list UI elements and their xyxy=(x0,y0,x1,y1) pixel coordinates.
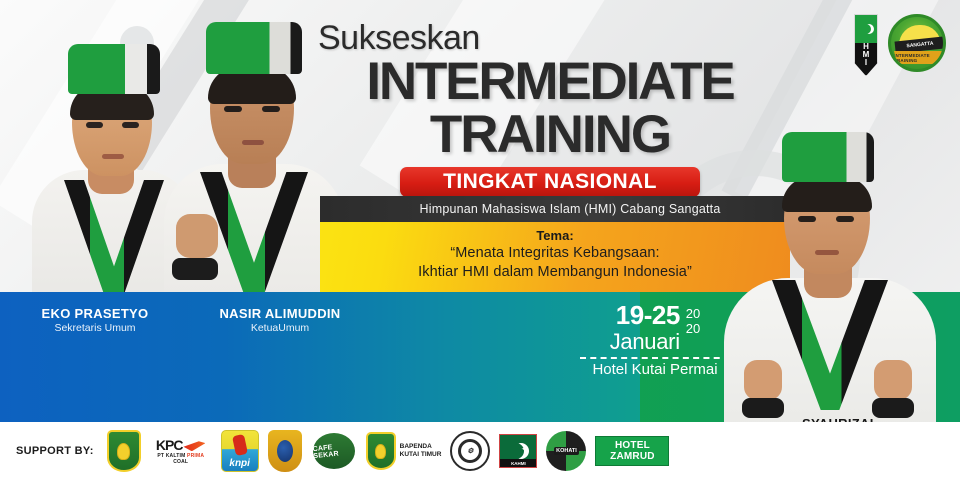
knpi-logo[interactable]: knpi xyxy=(221,430,259,472)
date-month: Januari xyxy=(610,329,680,354)
hand-left xyxy=(744,360,782,400)
fist xyxy=(176,214,218,258)
date-year: 20 20 xyxy=(680,302,700,336)
kutai-timur-shield-logo[interactable] xyxy=(107,430,141,472)
swoosh-icon xyxy=(183,441,205,451)
kohati-wordmark: KOHATI xyxy=(554,447,579,455)
eye xyxy=(122,122,139,128)
logo-ribbon-label: INTERMEDIATE TRAINING xyxy=(894,53,946,63)
hmi-cap xyxy=(206,22,302,74)
national-level-badge: TINGKAT NASIONAL xyxy=(400,167,700,197)
wristwatch xyxy=(172,258,218,280)
mouth xyxy=(242,140,264,145)
eye xyxy=(836,216,854,222)
intermediate-training-logo: SANGATTA INTERMEDIATE TRAINING xyxy=(888,14,946,72)
nameplate-eko: EKO PRASETYO Sekretaris Umum xyxy=(0,306,190,335)
person-name: EKO PRASETYO xyxy=(0,306,190,322)
theme-label: Tema: xyxy=(320,227,790,244)
national-level-badge-label: TINGKAT NASIONAL xyxy=(443,170,657,194)
headline-kicker: Sukseskan xyxy=(300,20,800,56)
shield-emblem-icon xyxy=(375,444,386,459)
person-name: NASIR ALIMUDDIN xyxy=(170,306,390,322)
date-year-top: 20 xyxy=(686,306,700,321)
hotel-zamrud-logo[interactable]: HOTEL ZAMRUD xyxy=(595,436,669,466)
nameplate-nasir: NASIR ALIMUDDIN KetuaUmum xyxy=(170,306,390,335)
date-day-range: 19-25 xyxy=(610,302,680,329)
organizer-label: Himpunan Mahasiswa Islam (HMI) Cabang Sa… xyxy=(420,202,721,216)
eye xyxy=(798,216,816,222)
bapenda-line-2: KUTAI TIMUR xyxy=(400,451,442,459)
gear-emblem-logo[interactable]: ⚙ xyxy=(450,431,490,471)
eye xyxy=(86,122,103,128)
theme-line-1: “Menata Integritas Kebangsaan: xyxy=(320,244,790,263)
bracelet-right xyxy=(872,398,914,418)
knpi-wordmark: knpi xyxy=(222,458,258,469)
hmi-cap xyxy=(68,44,160,94)
person-role: Sekretaris Umum xyxy=(0,322,190,335)
bapenda-line-1: BAPENDA xyxy=(400,443,442,451)
hand-right xyxy=(874,360,912,400)
logo-band-label: SANGATTA xyxy=(906,41,934,50)
event-poster: Sukseskan INTERMEDIATE TRAINING TINGKAT … xyxy=(0,0,960,480)
cafe-sekar-wordmark: CAFE SEKAR xyxy=(312,442,355,460)
kpc-sub-c: COAL xyxy=(173,459,188,465)
hmi-letters: H M I xyxy=(863,43,870,75)
theme-band: Tema: “Menata Integritas Kebangsaan: Ikh… xyxy=(320,222,790,292)
kahmi-flag-logo[interactable]: ✦ KAHMI xyxy=(499,434,537,468)
support-bar: SUPPORT BY: KPC PT KALTIM PRIMA COAL knp… xyxy=(0,422,960,480)
theme-line-2: Ikhtiar HMI dalam Membangun Indonesia” xyxy=(320,263,790,282)
shield-emblem-icon xyxy=(117,443,130,460)
figure-icon xyxy=(232,434,248,456)
eye xyxy=(262,106,280,112)
kpc-logo[interactable]: KPC PT KALTIM PRIMA COAL xyxy=(150,437,212,465)
police-emblem-icon xyxy=(277,440,293,462)
bracelet-left xyxy=(742,398,784,418)
bapenda-logo[interactable]: BAPENDA KUTAI TIMUR xyxy=(366,432,442,470)
star-icon: ✦ xyxy=(521,444,529,455)
support-by-label: SUPPORT BY: xyxy=(16,445,94,457)
mouth xyxy=(102,154,124,159)
kpc-wordmark: KPC xyxy=(156,437,183,453)
cafe-sekar-logo[interactable]: CAFE SEKAR xyxy=(311,431,357,471)
zamrud-line-1: HOTEL xyxy=(615,440,650,451)
brand-logo-group: H M I SANGATTA INTERMEDIATE TRAINING xyxy=(854,14,946,76)
date-year-bottom: 20 xyxy=(686,321,700,336)
gear-icon: ⚙ xyxy=(458,439,482,463)
kahmi-wordmark: KAHMI xyxy=(500,459,536,467)
kohati-circle-logo[interactable]: KOHATI xyxy=(546,431,586,471)
person-role: KetuaUmum xyxy=(170,322,390,335)
polri-logo[interactable] xyxy=(268,430,302,472)
mouth xyxy=(815,250,839,255)
hmi-cap xyxy=(782,132,874,182)
date-main: 19-25 Januari xyxy=(610,302,680,354)
dashed-divider xyxy=(580,357,730,359)
hmi-shield-logo: H M I xyxy=(854,14,878,76)
logo-ribbon: INTERMEDIATE TRAINING xyxy=(894,51,946,64)
person-photo-syahrizal xyxy=(722,128,937,420)
kpc-sub-b: PRIMA xyxy=(187,453,204,459)
hmi-letter-i: I xyxy=(865,59,867,67)
headline-line-1: INTERMEDIATE xyxy=(300,56,800,108)
crescent-icon xyxy=(855,15,877,43)
zamrud-line-2: ZAMRUD xyxy=(610,451,655,462)
eye xyxy=(224,106,242,112)
